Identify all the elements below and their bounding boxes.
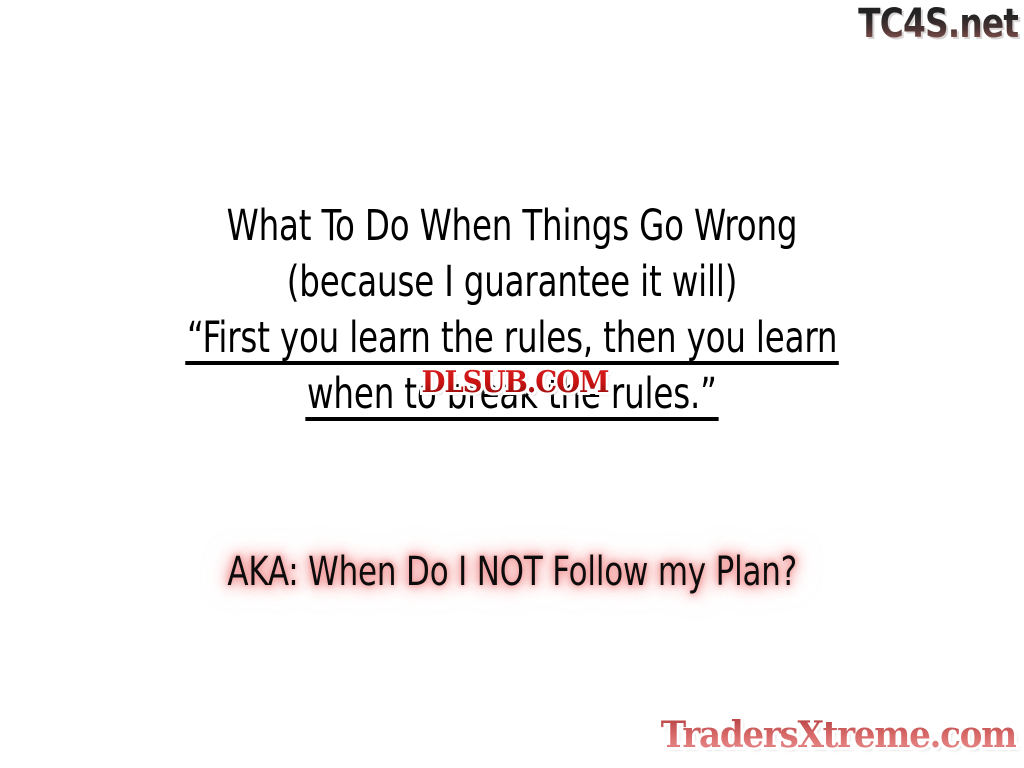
page-title-line-2: (because I guarantee it will) — [82, 254, 942, 310]
quote-line-1: “First you learn the rules, then you lea… — [187, 310, 837, 366]
presentation-slide: TC4S.net TC4S.net What To Do When Things… — [0, 0, 1024, 768]
dlsub-brand-watermark: DLSUB.COM — [385, 367, 644, 399]
tradersxtreme-brand-watermark: TradersXtreme.com — [661, 714, 1016, 756]
slide-subtitle: AKA: When Do I NOT Follow my Plan? — [0, 547, 1024, 597]
quote-row-1: “First you learn the rules, then you lea… — [0, 310, 1024, 366]
tradersxtreme-watermark-container: TradersXtreme.com TradersXtreme.com — [666, 712, 1016, 756]
tc4s-brand-watermark: TC4S.net — [858, 2, 1018, 46]
slide-subtitle-text: AKA: When Do I NOT Follow my Plan? — [227, 547, 797, 597]
dlsub-watermark-container: DLSUB.COM DLSUB.COM — [374, 367, 656, 399]
page-title-line-1: What To Do When Things Go Wrong — [82, 198, 942, 254]
